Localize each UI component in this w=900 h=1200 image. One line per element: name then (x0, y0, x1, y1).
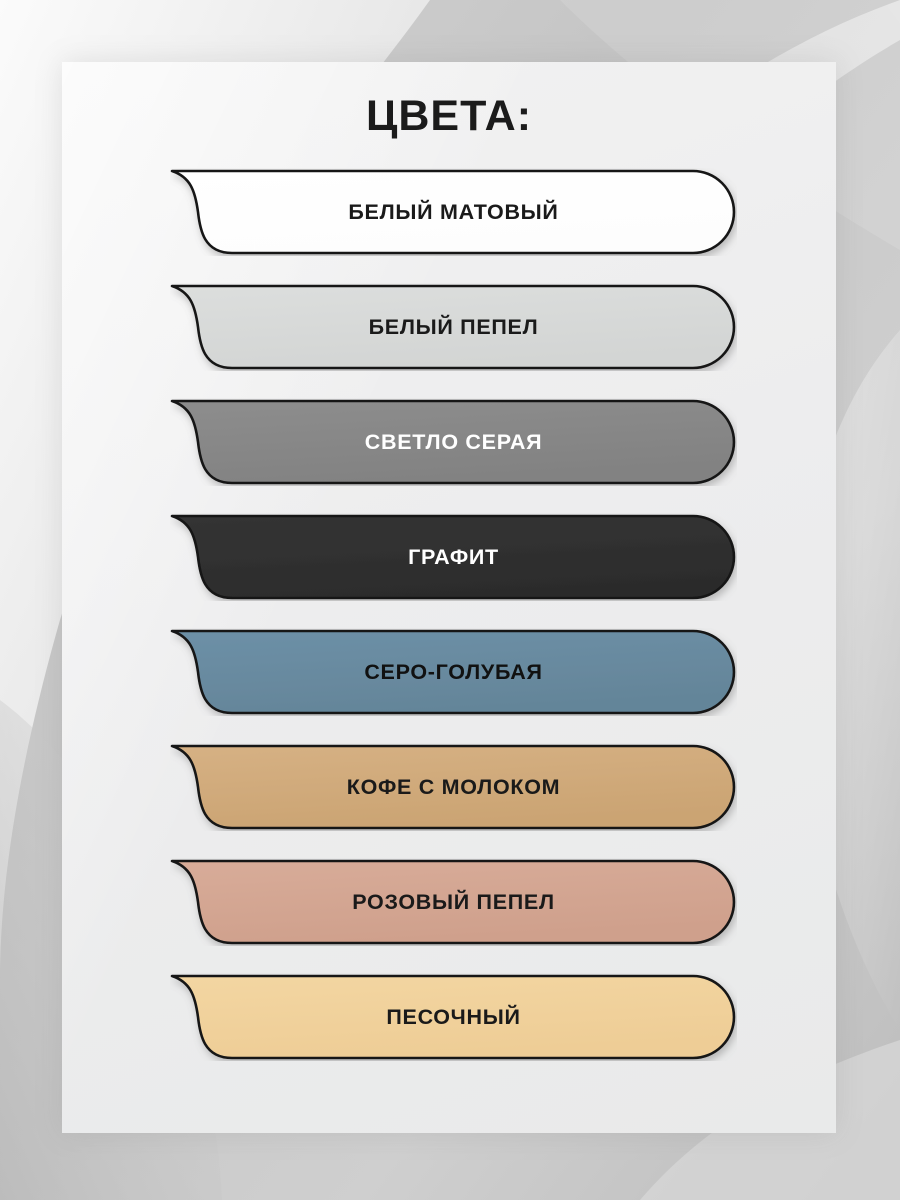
swatch-shape-graphite (170, 513, 737, 601)
color-card-panel: ЦВЕТА: БЕЛЫЙ МАТОВЫЙБЕЛЫЙ ПЕПЕЛСВЕТЛО СЕ… (62, 62, 836, 1133)
color-swatch-list: БЕЛЫЙ МАТОВЫЙБЕЛЫЙ ПЕПЕЛСВЕТЛО СЕРАЯГРАФ… (170, 168, 737, 1061)
color-swatch-coffee-with-milk[interactable]: КОФЕ С МОЛОКОМ (170, 743, 737, 831)
color-swatch-white-ash[interactable]: БЕЛЫЙ ПЕПЕЛ (170, 283, 737, 371)
color-swatch-pink-ash[interactable]: РОЗОВЫЙ ПЕПЕЛ (170, 858, 737, 946)
color-swatch-sandy[interactable]: ПЕСОЧНЫЙ (170, 973, 737, 1061)
color-swatch-graphite[interactable]: ГРАФИТ (170, 513, 737, 601)
page-title: ЦВЕТА: (62, 92, 836, 141)
color-swatch-white-matte[interactable]: БЕЛЫЙ МАТОВЫЙ (170, 168, 737, 256)
color-swatch-gray-blue[interactable]: СЕРО-ГОЛУБАЯ (170, 628, 737, 716)
color-swatch-light-gray[interactable]: СВЕТЛО СЕРАЯ (170, 398, 737, 486)
swatch-shape-white-matte (170, 168, 737, 256)
swatch-shape-gray-blue (170, 628, 737, 716)
swatch-shape-coffee-with-milk (170, 743, 737, 831)
swatch-shape-pink-ash (170, 858, 737, 946)
swatch-shape-white-ash (170, 283, 737, 371)
swatch-shape-light-gray (170, 398, 737, 486)
swatch-shape-sandy (170, 973, 737, 1061)
